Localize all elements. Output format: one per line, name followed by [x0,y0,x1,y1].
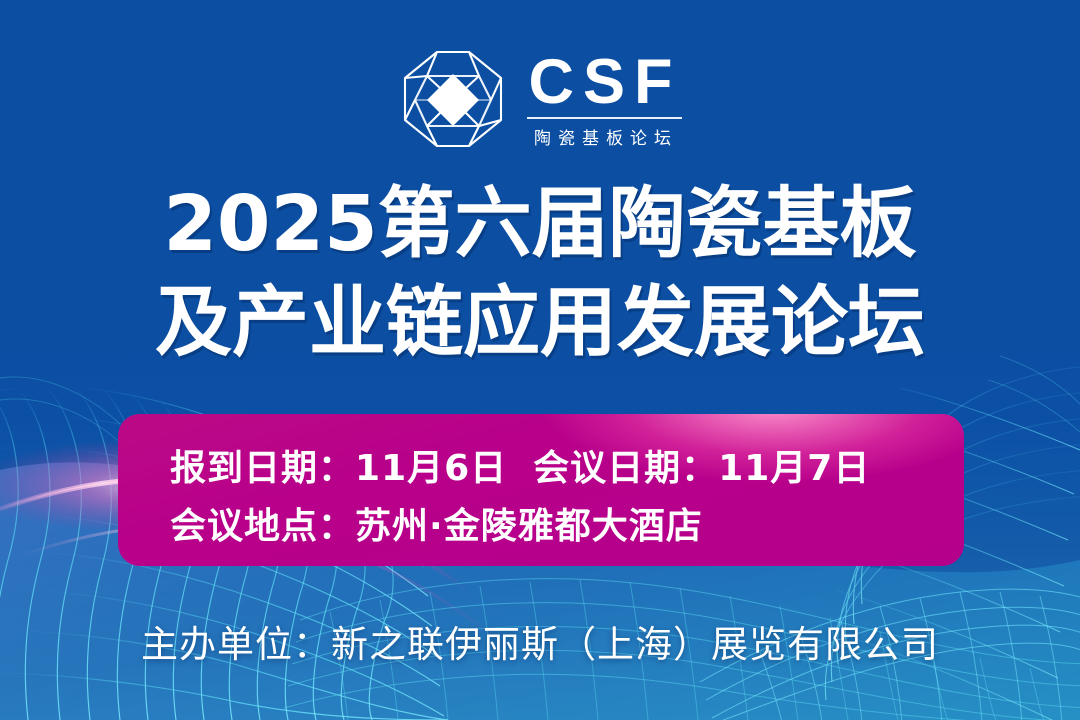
meeting-date-value: 11月7日 [718,448,870,489]
event-dates-line: 报到日期：11月6日会议日期：11月7日 [170,440,964,498]
logo-subtitle: 陶瓷基板论坛 [525,124,682,149]
event-info-banner: 报到日期：11月6日会议日期：11月7日 会议地点：苏州·金陵雅都大酒店 [118,414,964,566]
logo-text-block: CSF 陶瓷基板论坛 [525,51,682,149]
event-venue-line: 会议地点：苏州·金陵雅都大酒店 [170,498,964,556]
logo-acronym: CSF [525,53,682,113]
logo-block: CSF 陶瓷基板论坛 [0,46,1080,154]
organizer-line: 主办单位：新之联伊丽斯（上海）展览有限公司 [0,614,1080,668]
checkin-date-label: 报到日期： [170,448,355,489]
venue-label: 会议地点： [170,506,355,547]
logo-divider [527,117,682,119]
venue-value: 苏州·金陵雅都大酒店 [355,506,703,547]
csf-octagon-diamond-icon [399,46,507,154]
event-poster: CSF 陶瓷基板论坛 2025第六届陶瓷基板 及产业链应用发展论坛 报到日期：1… [0,0,1080,720]
title-line-1: 2025第六届陶瓷基板 [0,176,1080,275]
poster-title: 2025第六届陶瓷基板 及产业链应用发展论坛 [0,176,1080,373]
title-line-2: 及产业链应用发展论坛 [0,275,1080,374]
checkin-date-value: 11月6日 [355,448,507,489]
meeting-date-label: 会议日期： [533,448,718,489]
